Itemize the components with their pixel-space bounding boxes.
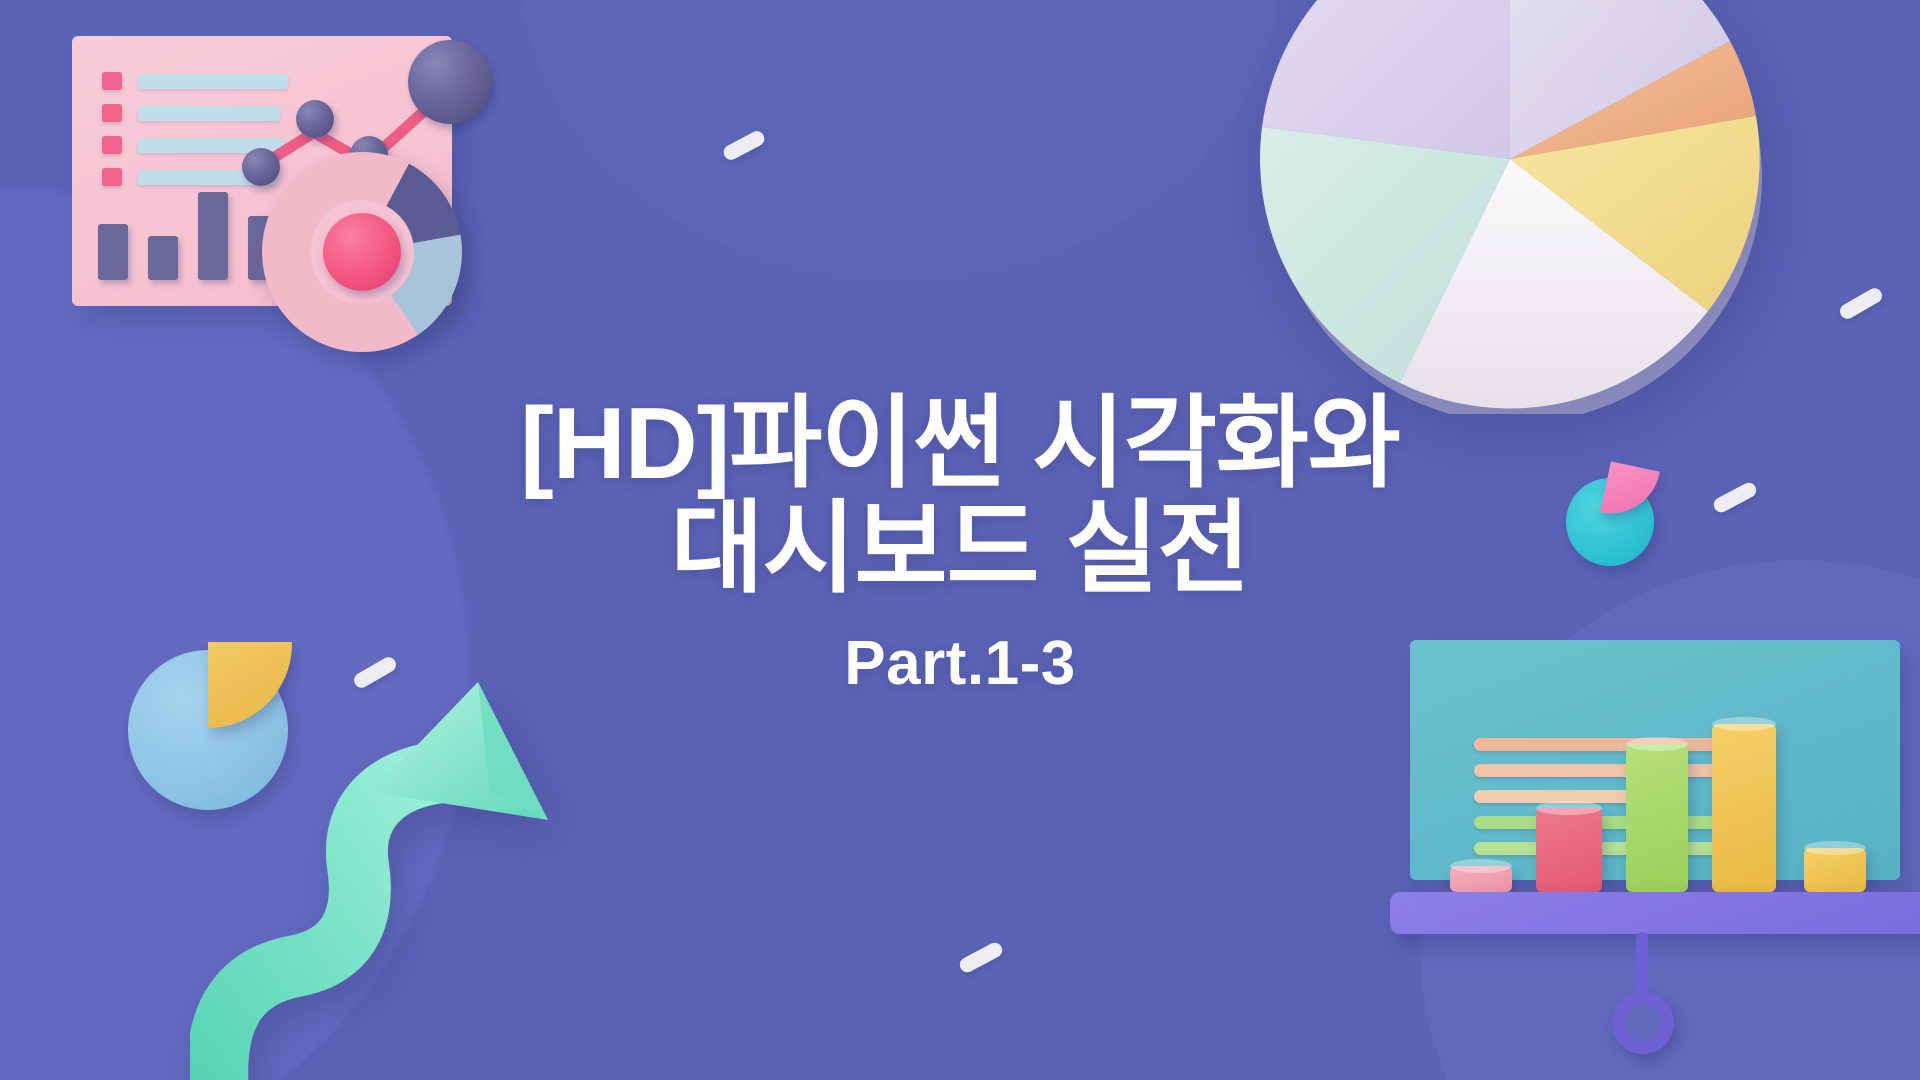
confetti-stick [721, 129, 767, 163]
confetti-stick [957, 940, 1005, 975]
course-subtitle: Part.1-3 [0, 628, 1920, 699]
monitor-bar [1450, 866, 1512, 892]
confetti-stick [1837, 286, 1884, 322]
legend-swatch-icon [102, 72, 122, 90]
donut-center-circle [323, 213, 401, 291]
legend-swatch-icon [102, 168, 122, 186]
large-pie-svg [1255, 0, 1765, 414]
growth-arrow-illustration [190, 660, 620, 1080]
legend-swatch-icon [102, 136, 122, 154]
course-title-line-2: 대시보드 실전 [0, 497, 1920, 602]
growth-arrow-svg [190, 660, 620, 1080]
monitor-bar [1536, 808, 1602, 892]
course-title-line-1: [HD]파이썬 시각화와 [0, 392, 1920, 497]
legend-bar [138, 74, 288, 89]
bar [198, 192, 228, 280]
bar [98, 224, 128, 280]
card-bar-chart [98, 192, 278, 280]
monitor-bar [1712, 724, 1776, 892]
large-pie-chart-illustration [1255, 0, 1765, 414]
monitor-bar [1804, 848, 1866, 892]
monitor-ring-icon [1612, 992, 1674, 1054]
legend-swatch-icon [102, 104, 122, 122]
donut-chart-illustration [262, 152, 462, 352]
data-point-sphere-large [408, 40, 492, 124]
monitor-base-plate [1390, 892, 1920, 934]
background-blob-top [520, 0, 1280, 280]
bar [148, 236, 178, 280]
title-block: [HD]파이썬 시각화와 대시보드 실전 Part.1-3 [0, 392, 1920, 699]
course-banner: [HD]파이썬 시각화와 대시보드 실전 Part.1-3 [0, 0, 1920, 1080]
monitor-bar [1626, 744, 1688, 892]
data-point-sphere [296, 100, 334, 138]
